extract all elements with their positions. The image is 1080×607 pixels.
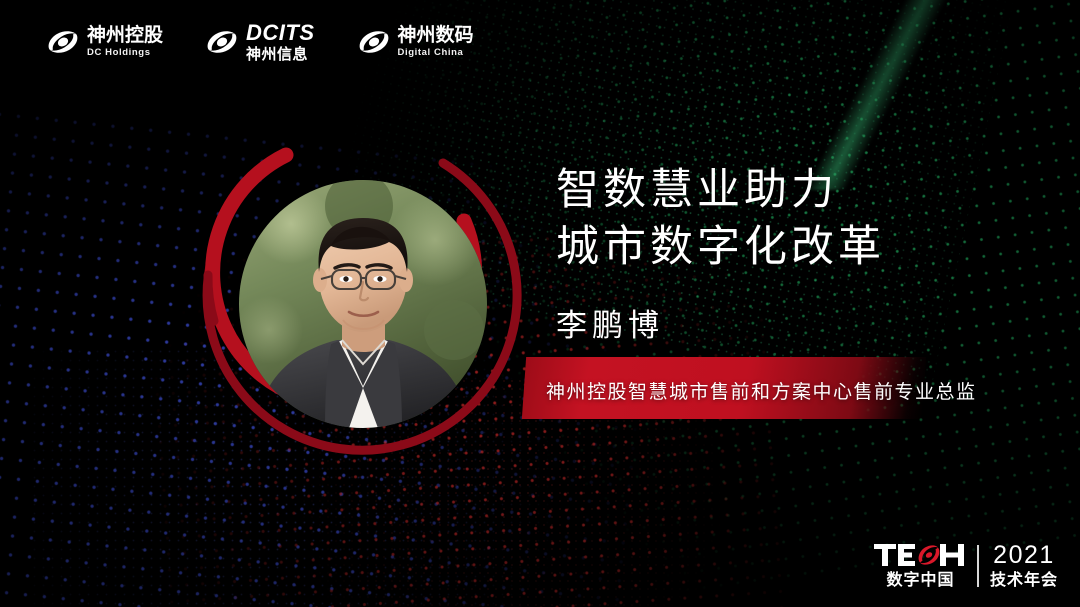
event-lockup: 数字中国 2021 技术年会 xyxy=(874,542,1058,589)
logo-dcits-latin: DCITS xyxy=(246,22,315,44)
logo-dc-holdings-words: 神州控股 DC Holdings xyxy=(87,26,163,58)
logo-dc-holdings-en: DC Holdings xyxy=(87,48,163,58)
title-line-2: 城市数字化改革 xyxy=(556,219,885,276)
logo-digital-china-en: Digital China xyxy=(398,48,474,58)
logo-dc-holdings: 神州控股 DC Holdings xyxy=(46,26,163,58)
logo-dcits: DCITS 神州信息 xyxy=(205,22,315,62)
event-brand: 数字中国 xyxy=(874,542,966,589)
role-title: 神州控股智慧城市售前和方案中心售前专业总监 xyxy=(546,377,977,404)
event-brand-cn: 数字中国 xyxy=(886,573,954,589)
event-year-group: 2021 技术年会 xyxy=(990,543,1058,589)
speaker-name: 李鹏博 xyxy=(556,300,664,345)
tech-wordmark-icon xyxy=(874,542,966,568)
lockup-divider xyxy=(977,545,979,587)
speaker-portrait-art xyxy=(239,180,487,428)
tech-swoosh-icon xyxy=(919,545,940,564)
slide-canvas: 神州控股 DC Holdings DCITS 神州信息 xyxy=(0,0,1080,607)
logo-bar: 神州控股 DC Holdings DCITS 神州信息 xyxy=(46,22,474,62)
swoosh-icon xyxy=(205,27,239,57)
logo-digital-china: 神州数码 Digital China xyxy=(357,26,474,58)
logo-dc-holdings-cn: 神州控股 xyxy=(87,26,163,45)
logo-digital-china-cn: 神州数码 xyxy=(398,26,474,45)
logo-dcits-cn: 神州信息 xyxy=(246,47,315,62)
speaker-portrait xyxy=(239,180,487,428)
logo-digital-china-words: 神州数码 Digital China xyxy=(398,26,474,58)
title-line-1: 智数慧业助力 xyxy=(556,162,885,219)
title-block: 智数慧业助力 城市数字化改革 xyxy=(556,162,885,276)
event-year-cn: 技术年会 xyxy=(990,573,1058,589)
swoosh-icon xyxy=(357,27,391,57)
event-year: 2021 xyxy=(993,543,1055,568)
logo-dcits-words: DCITS 神州信息 xyxy=(246,22,315,62)
vignette-overlay xyxy=(0,0,1080,607)
portrait-block xyxy=(168,125,518,493)
swoosh-icon xyxy=(46,27,80,57)
